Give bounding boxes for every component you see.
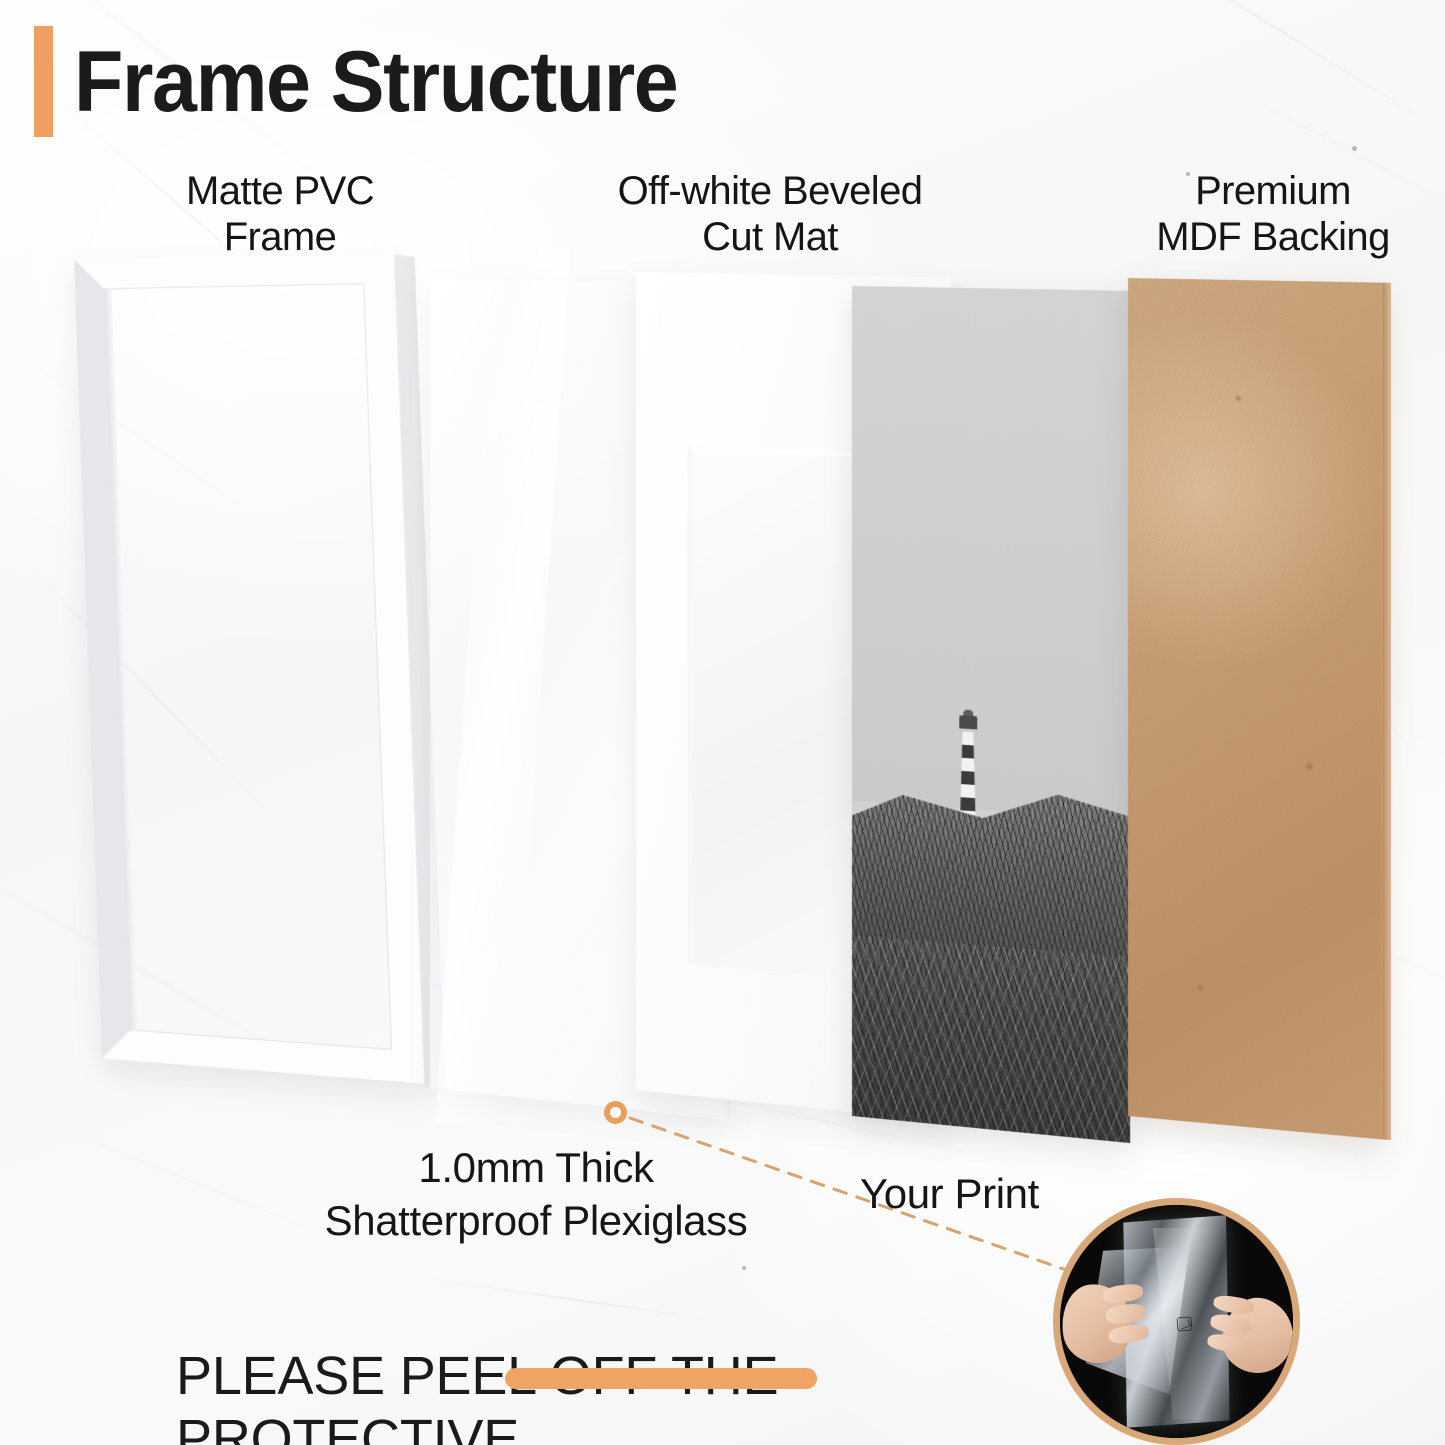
label-cut-mat: Off-white Beveled Cut Mat [570, 168, 970, 260]
mdf-side-edge [1382, 283, 1391, 1141]
print-photo-layer [852, 286, 1130, 1143]
dune-grass [852, 766, 1130, 1143]
dune-grass-blades [852, 933, 1130, 1143]
lighthouse-icon [956, 707, 980, 830]
peel-warning: PLEASE PEEL OFF THE PROTECTIVE FILMS ON … [176, 1282, 1036, 1445]
inset-dark-background [1060, 1205, 1293, 1438]
film-logo-icon [1176, 1316, 1192, 1331]
plexiglass-callout-dot [604, 1101, 627, 1124]
mdf-fiber-grain [1128, 278, 1382, 1139]
label-plexiglass: 1.0mm Thick Shatterproof Plexiglass [258, 1142, 814, 1247]
both-sides-highlight [505, 1368, 817, 1389]
peel-film-photo-inset [1053, 1198, 1300, 1445]
plexiglass-gloss-streak [435, 246, 571, 1129]
infographic-canvas: Frame Structure [0, 0, 1445, 1445]
pvc-frame-layer [74, 251, 424, 1083]
photo-sky [852, 286, 1130, 819]
lighthouse-lamp [959, 715, 977, 729]
label-matte-pvc-frame: Matte PVC Frame [100, 168, 460, 260]
label-mdf-backing: Premium MDF Backing [1098, 168, 1445, 260]
mdf-backing-layer [1128, 278, 1382, 1139]
label-your-print: Your Print [860, 1168, 1090, 1221]
warning-line-1: PLEASE PEEL OFF THE PROTECTIVE [176, 1345, 1036, 1445]
